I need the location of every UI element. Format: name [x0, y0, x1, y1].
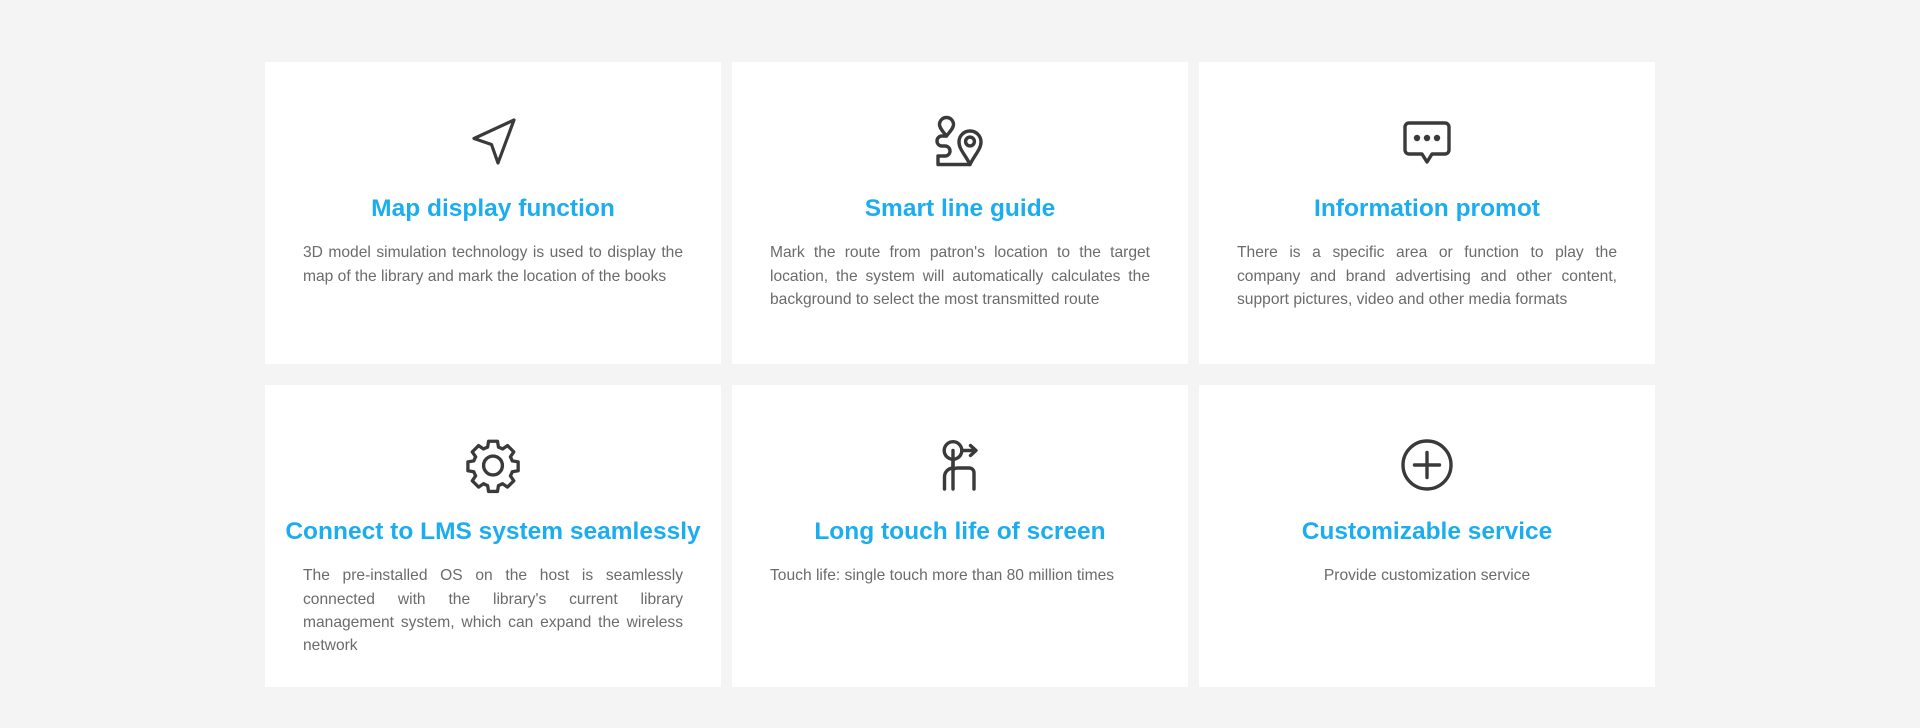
feature-title: Long touch life of screen	[814, 517, 1105, 546]
feature-card-map-display[interactable]: Map display function 3D model simulation…	[265, 62, 721, 364]
plus-circle-icon	[1396, 419, 1458, 511]
feature-title: Connect to LMS system seamlessly	[285, 517, 700, 546]
navigation-arrow-icon	[462, 96, 524, 188]
feature-card-lms-connect[interactable]: Connect to LMS system seamlessly The pre…	[265, 385, 721, 687]
speech-bubble-dots-icon	[1396, 96, 1458, 188]
feature-card-grid: Map display function 3D model simulation…	[265, 62, 1655, 687]
gear-icon	[462, 419, 524, 511]
touch-gesture-icon	[929, 419, 991, 511]
feature-description: Mark the route from patron's location to…	[770, 241, 1150, 311]
feature-description: Touch life: single touch more than 80 mi…	[770, 564, 1150, 587]
feature-title: Map display function	[371, 194, 615, 223]
feature-card-smart-line-guide[interactable]: Smart line guide Mark the route from pat…	[732, 62, 1188, 364]
feature-title: Information promot	[1314, 194, 1540, 223]
feature-card-customizable-service[interactable]: Customizable service Provide customizati…	[1199, 385, 1655, 687]
feature-description: Provide customization service	[1237, 564, 1617, 587]
feature-title: Customizable service	[1302, 517, 1553, 546]
feature-description: There is a specific area or function to …	[1237, 241, 1617, 311]
feature-card-information-promot[interactable]: Information promot There is a specific a…	[1199, 62, 1655, 364]
route-map-pin-icon	[929, 96, 991, 188]
features-section: Map display function 3D model simulation…	[0, 0, 1920, 728]
feature-description: 3D model simulation technology is used t…	[303, 241, 683, 287]
feature-card-touch-life[interactable]: Long touch life of screen Touch life: si…	[732, 385, 1188, 687]
feature-title: Smart line guide	[865, 194, 1056, 223]
feature-description: The pre-installed OS on the host is seam…	[303, 564, 683, 657]
